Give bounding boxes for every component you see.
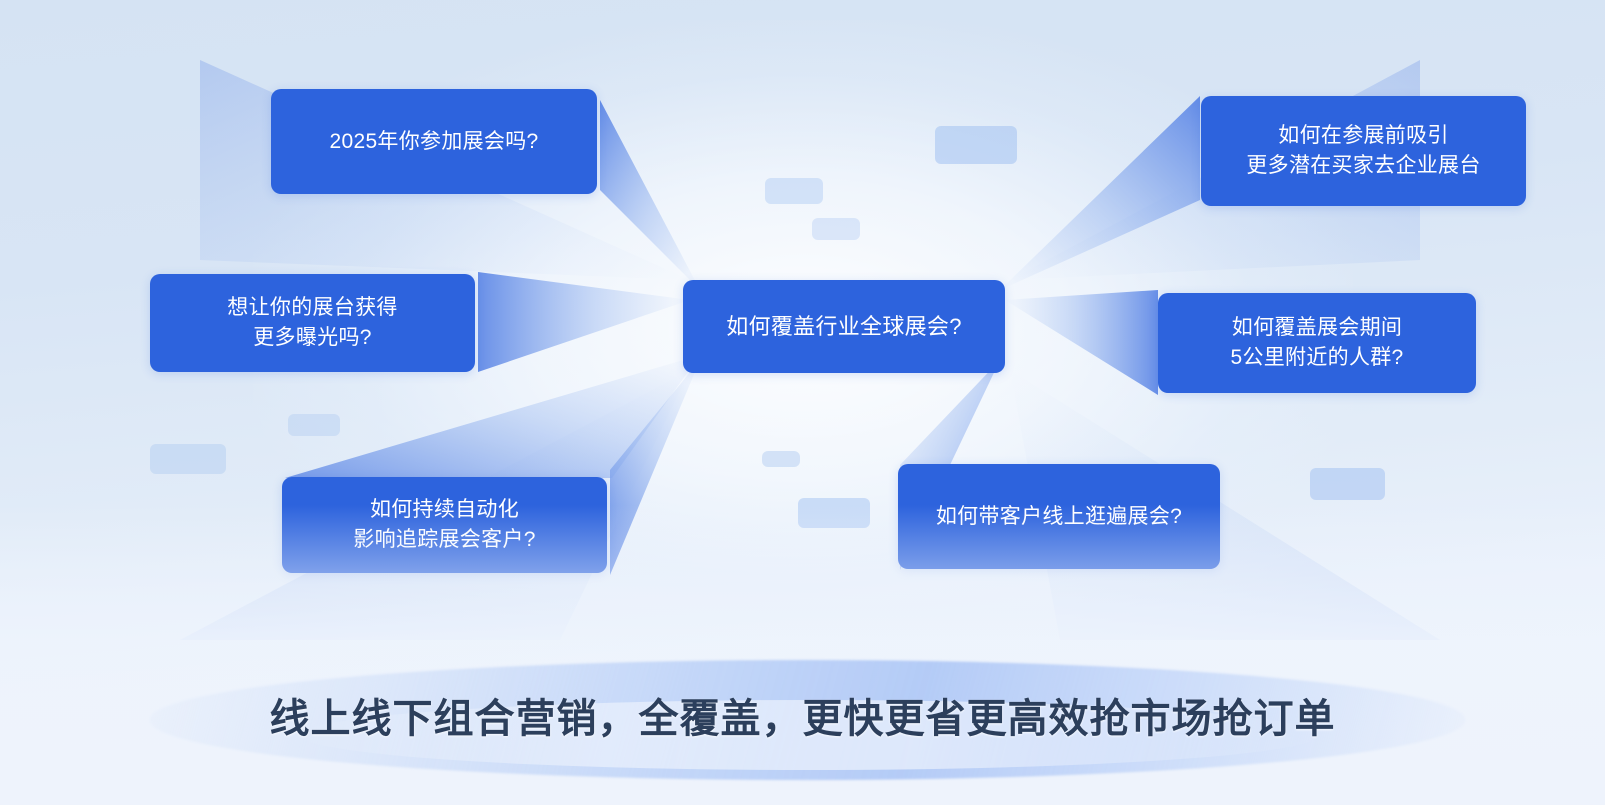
node-bottom-right[interactable]: 如何带客户线上逛遍展会?: [898, 464, 1220, 569]
node-top-right[interactable]: 如何在参展前吸引 更多潜在买家去企业展台: [1201, 96, 1526, 206]
node-mid-left-label: 想让你的展台获得 更多曝光吗?: [227, 293, 397, 353]
node-top-left[interactable]: 2025年你参加展会吗?: [271, 89, 597, 194]
node-mid-right-label: 如何覆盖展会期间 5公里附近的人群?: [1230, 313, 1403, 373]
deco-rect-2: [765, 178, 823, 204]
deco-rect-1: [935, 126, 1017, 164]
deco-rect-8: [1310, 468, 1385, 500]
deco-rect-4: [288, 414, 340, 436]
banner-title: 线上线下组合营销，全覆盖，更快更省更高效抢市场抢订单: [0, 686, 1605, 744]
node-top-right-label: 如何在参展前吸引 更多潜在买家去企业展台: [1246, 121, 1480, 181]
center-node-label: 如何覆盖行业全球展会?: [726, 311, 962, 342]
deco-rect-7: [798, 498, 870, 528]
node-top-left-label: 2025年你参加展会吗?: [330, 127, 539, 157]
deco-rect-5: [150, 444, 226, 474]
infographic-canvas: 如何覆盖行业全球展会? 2025年你参加展会吗? 如何在参展前吸引 更多潜在买家…: [0, 0, 1605, 805]
bottom-fade: [0, 505, 1605, 805]
node-bottom-left[interactable]: 如何持续自动化 影响追踪展会客户?: [282, 477, 607, 573]
center-node[interactable]: 如何覆盖行业全球展会?: [683, 280, 1005, 373]
node-bottom-left-label: 如何持续自动化 影响追踪展会客户?: [353, 495, 535, 555]
deco-rect-3: [812, 218, 860, 240]
node-mid-right[interactable]: 如何覆盖展会期间 5公里附近的人群?: [1158, 293, 1476, 393]
node-bottom-right-label: 如何带客户线上逛遍展会?: [936, 502, 1182, 532]
deco-rect-6: [762, 451, 800, 467]
node-mid-left[interactable]: 想让你的展台获得 更多曝光吗?: [150, 274, 475, 372]
